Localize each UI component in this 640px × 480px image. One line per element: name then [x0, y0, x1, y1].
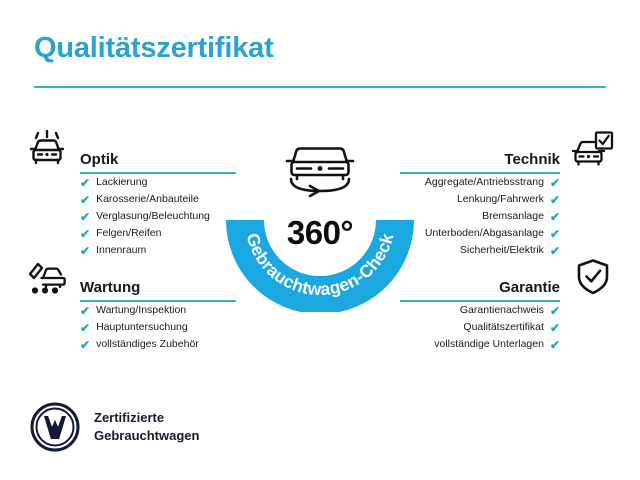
section-optik: Optik ✔Lackierung ✔Karosserie/Anbauteile… [24, 128, 236, 259]
list-item: ✔vollständiges Zubehör [80, 336, 236, 353]
checklist-technik: Aggregate/Antriebsstrang✔ Lenkung/Fahrwe… [400, 174, 560, 259]
list-item-label: Bremsanlage [482, 211, 544, 222]
list-item: Qualitätszertifikat✔ [400, 319, 560, 336]
list-item-label: Aggregate/Antriebsstrang [425, 177, 544, 188]
check-icon: ✔ [80, 228, 90, 240]
list-item-label: Lackierung [96, 177, 147, 188]
section-header-garantie: Garantie [400, 256, 616, 302]
section-divider-optik [80, 172, 236, 174]
list-item: ✔Wartung/Inspektion [80, 302, 236, 319]
list-item-label: Unterboden/Abgasanlage [425, 228, 544, 239]
section-header-wartung: Wartung [24, 256, 236, 302]
car-shine-icon [24, 128, 70, 170]
list-item-label: vollständige Unterlagen [434, 339, 544, 350]
check-icon: ✔ [550, 245, 560, 257]
list-item-label: Garantienachweis [460, 305, 544, 316]
check-icon: ✔ [550, 305, 560, 317]
section-title-optik: Optik [80, 151, 118, 168]
list-item-label: vollständiges Zubehör [96, 339, 199, 350]
checklist-wartung: ✔Wartung/Inspektion ✔Hauptuntersuchung ✔… [80, 302, 236, 353]
section-title-garantie: Garantie [499, 279, 560, 296]
check-icon: ✔ [80, 322, 90, 334]
section-garantie: Garantie Garantienachweis✔ Qualitätszert… [400, 256, 616, 353]
badge-360-gebrauchtwagen-check: Gebrauchtwagen-Check 360° [226, 116, 414, 312]
list-item-label: Hauptuntersuchung [96, 322, 188, 333]
section-wartung: Wartung ✔Wartung/Inspektion ✔Hauptunters… [24, 256, 236, 353]
list-item-label: Verglasung/Beleuchtung [96, 211, 210, 222]
page-title: Qualitätszertifikat [34, 32, 274, 65]
car-service-wrench-icon [24, 256, 70, 298]
list-item: Unterboden/Abgasanlage✔ [400, 225, 560, 242]
check-icon: ✔ [550, 177, 560, 189]
list-item-label: Felgen/Reifen [96, 228, 161, 239]
title-divider [34, 86, 606, 88]
car-rotate-360-icon [287, 149, 353, 197]
check-icon: ✔ [80, 194, 90, 206]
list-item-label: Innenraum [96, 245, 146, 256]
list-item: Garantienachweis✔ [400, 302, 560, 319]
check-icon: ✔ [550, 194, 560, 206]
list-item-label: Sicherheit/Elektrik [460, 245, 544, 256]
quality-certificate-page: Qualitätszertifikat [0, 0, 640, 480]
list-item: ✔Lackierung [80, 174, 236, 191]
check-icon: ✔ [80, 177, 90, 189]
list-item-label: Wartung/Inspektion [96, 305, 186, 316]
section-divider-garantie [400, 300, 560, 302]
section-title-wartung: Wartung [80, 279, 140, 296]
section-divider-wartung [80, 300, 236, 302]
list-item: ✔Karosserie/Anbauteile [80, 191, 236, 208]
section-header-technik: Technik [400, 128, 616, 174]
checklist-garantie: Garantienachweis✔ Qualitätszertifikat✔ v… [400, 302, 560, 353]
check-icon: ✔ [550, 228, 560, 240]
check-icon: ✔ [80, 305, 90, 317]
list-item: Bremsanlage✔ [400, 208, 560, 225]
footer-brand: Zertifizierte Gebrauchtwagen [30, 402, 199, 452]
list-item-label: Lenkung/Fahrwerk [457, 194, 544, 205]
car-checkbox-icon [570, 128, 616, 170]
badge-degrees: 360° [226, 214, 414, 252]
section-header-optik: Optik [24, 128, 236, 174]
list-item-label: Qualitätszertifikat [463, 322, 544, 333]
check-icon: ✔ [550, 211, 560, 223]
list-item-label: Karosserie/Anbauteile [96, 194, 199, 205]
section-divider-technik [400, 172, 560, 174]
section-technik: Technik Aggregate/Antriebsstrang✔ Lenkun… [400, 128, 616, 259]
check-icon: ✔ [80, 211, 90, 223]
list-item: ✔Verglasung/Beleuchtung [80, 208, 236, 225]
shield-check-icon [570, 256, 616, 298]
vw-roundel-logo [30, 402, 80, 452]
footer-text: Zertifizierte Gebrauchtwagen [94, 409, 199, 444]
check-icon: ✔ [550, 322, 560, 334]
section-title-technik: Technik [504, 151, 560, 168]
footer-line-1: Zertifizierte [94, 409, 199, 427]
list-item: ✔Hauptuntersuchung [80, 319, 236, 336]
list-item: Lenkung/Fahrwerk✔ [400, 191, 560, 208]
check-icon: ✔ [80, 245, 90, 257]
check-icon: ✔ [550, 339, 560, 351]
footer-line-2: Gebrauchtwagen [94, 427, 199, 445]
list-item: ✔Felgen/Reifen [80, 225, 236, 242]
list-item: Aggregate/Antriebsstrang✔ [400, 174, 560, 191]
checklist-optik: ✔Lackierung ✔Karosserie/Anbauteile ✔Verg… [80, 174, 236, 259]
list-item: vollständige Unterlagen✔ [400, 336, 560, 353]
check-icon: ✔ [80, 339, 90, 351]
